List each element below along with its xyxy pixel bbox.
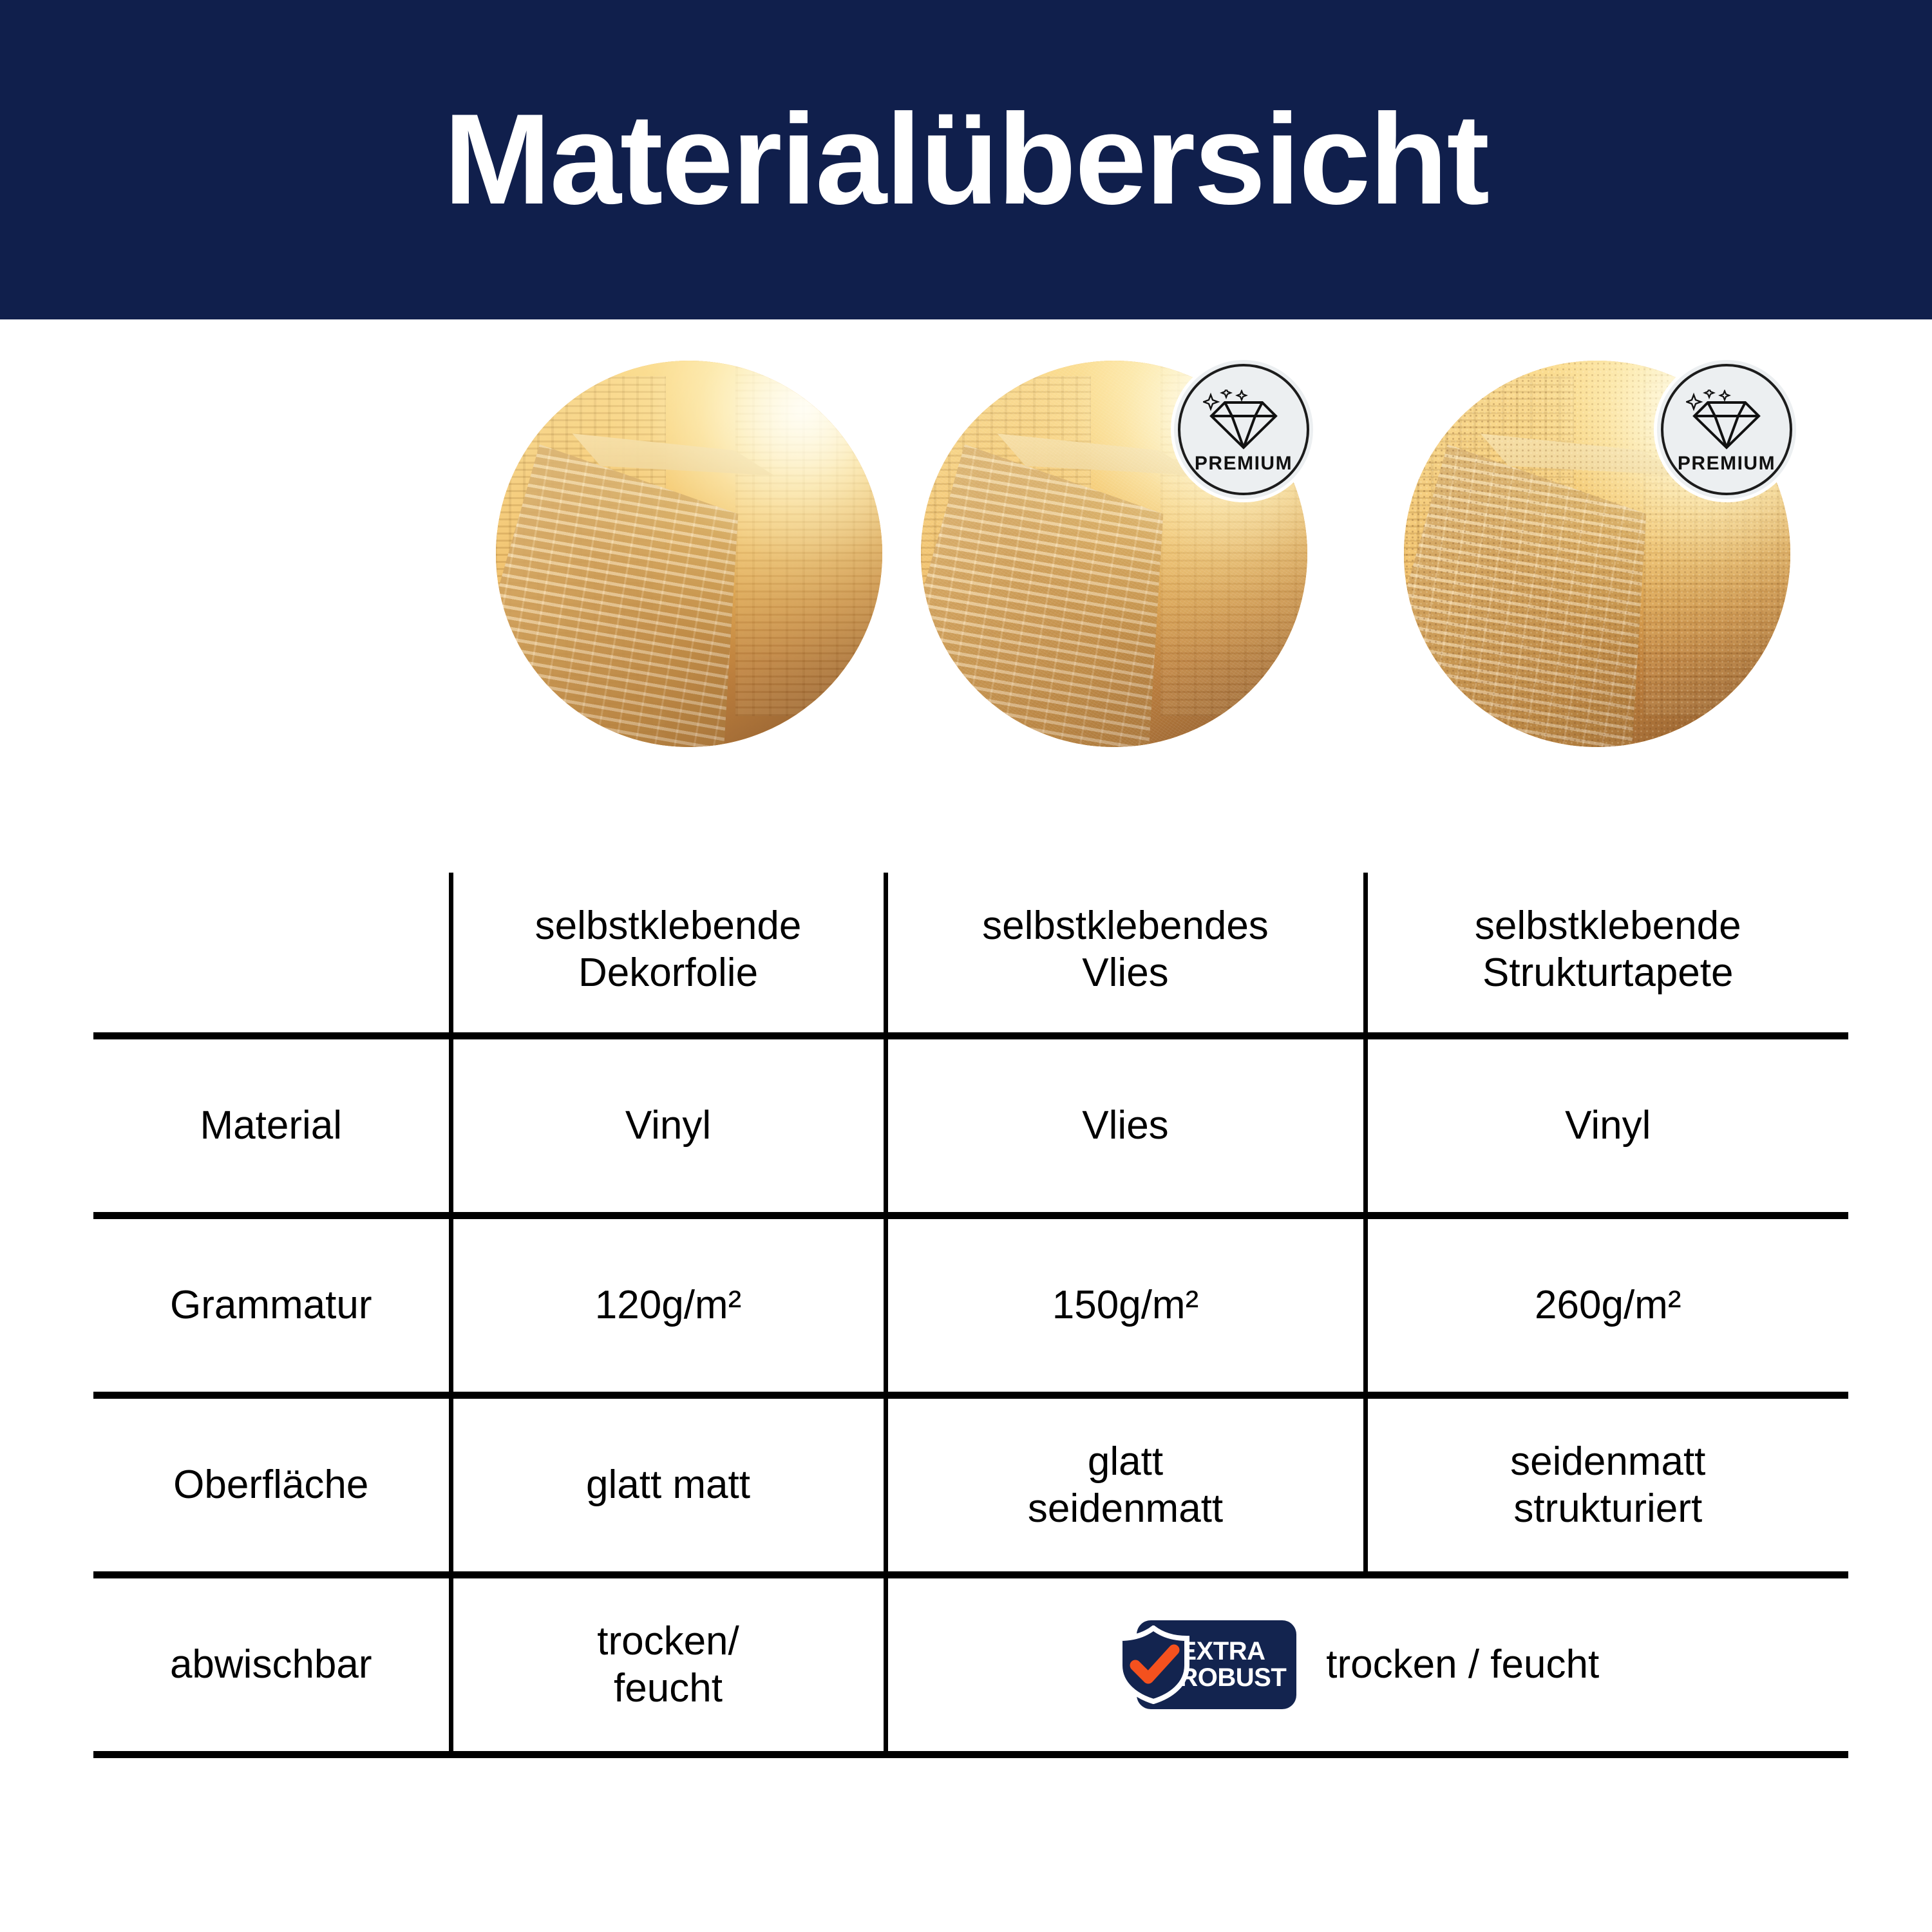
column-header-dekorfolie: selbstklebende Dekorfolie xyxy=(451,873,885,1036)
header-corner-empty xyxy=(93,873,451,1036)
cell-abwischbar-merged-text: trocken / feucht xyxy=(1326,1641,1599,1688)
column-header-line1: selbstklebende xyxy=(453,902,884,949)
table-row: Grammatur 120g/m² 150g/m² 260g/m² xyxy=(93,1216,1848,1396)
sun-glow xyxy=(496,361,882,747)
cell-grammatur-strukturtapete: 260g/m² xyxy=(1365,1216,1848,1396)
row-label-grammatur: Grammatur xyxy=(93,1216,451,1396)
cell-oberflaeche-dekorfolie: glatt matt xyxy=(451,1396,885,1575)
row-label-oberflaeche: Oberfläche xyxy=(93,1396,451,1575)
column-header-line2: Vlies xyxy=(888,949,1363,996)
cell-line2: strukturiert xyxy=(1368,1485,1849,1532)
table-row: Material Vinyl Vlies Vinyl xyxy=(93,1036,1848,1216)
column-header-vlies: selbstklebendes Vlies xyxy=(885,873,1365,1036)
cell-oberflaeche-strukturtapete: seidenmatt strukturiert xyxy=(1365,1396,1848,1575)
cell-line1: seidenmatt xyxy=(1368,1438,1849,1485)
premium-badge-label: PREMIUM xyxy=(1195,454,1293,473)
swatch-strukturtapete[interactable]: PREMIUM xyxy=(1404,361,1790,747)
row-label-abwischbar: abwischbar xyxy=(93,1575,451,1755)
cell-oberflaeche-vlies: glatt seidenmatt xyxy=(885,1396,1365,1575)
header-banner: Materialübersicht xyxy=(0,0,1932,319)
extra-robust-line2: ROBUST xyxy=(1179,1665,1286,1691)
premium-badge-inner: PREMIUM xyxy=(1178,364,1309,495)
page-title: Materialübersicht xyxy=(444,95,1488,224)
cell-grammatur-dekorfolie: 120g/m² xyxy=(451,1216,885,1396)
column-header-line1: selbstklebende xyxy=(1368,902,1849,949)
swatch-dekorfolie[interactable] xyxy=(496,361,882,747)
cell-material-vlies: Vlies xyxy=(885,1036,1365,1216)
diamond-icon xyxy=(1686,386,1767,451)
swatch-image-dekorfolie xyxy=(496,361,882,747)
column-header-strukturtapete: selbstklebende Strukturtapete xyxy=(1365,873,1848,1036)
premium-badge: PREMIUM xyxy=(1171,357,1316,502)
cell-grammatur-vlies: 150g/m² xyxy=(885,1216,1365,1396)
table-row: Oberfläche glatt matt glatt seidenmatt s… xyxy=(93,1396,1848,1575)
material-spec-table: selbstklebende Dekorfolie selbstklebende… xyxy=(93,873,1848,1758)
swatch-vlies[interactable]: PREMIUM xyxy=(921,361,1307,747)
cell-line1: glatt xyxy=(888,1438,1363,1485)
cell-material-dekorfolie: Vinyl xyxy=(451,1036,885,1216)
row-label-material: Material xyxy=(93,1036,451,1216)
cell-material-strukturtapete: Vinyl xyxy=(1365,1036,1848,1216)
cell-line2: feucht xyxy=(453,1665,884,1712)
material-swatch-row: PREMIUM xyxy=(0,361,1932,773)
cell-line1: trocken/ xyxy=(453,1618,884,1665)
column-header-line1: selbstklebendes xyxy=(888,902,1363,949)
premium-badge: PREMIUM xyxy=(1654,357,1799,502)
extra-robust-line1: EXTRA xyxy=(1179,1638,1265,1665)
cell-abwischbar-dekorfolie: trocken/ feucht xyxy=(451,1575,885,1755)
premium-badge-inner: PREMIUM xyxy=(1661,364,1792,495)
diamond-icon xyxy=(1203,386,1284,451)
table-header-row: selbstklebende Dekorfolie selbstklebende… xyxy=(93,873,1848,1036)
premium-badge-label: PREMIUM xyxy=(1678,454,1776,473)
cell-abwischbar-merged: EXTRA ROBUST trocken / feucht xyxy=(885,1575,1848,1755)
extra-robust-badge: EXTRA ROBUST xyxy=(1137,1620,1296,1709)
column-header-line2: Strukturtapete xyxy=(1368,949,1849,996)
cell-line1: glatt matt xyxy=(453,1461,884,1508)
extra-robust-label: EXTRA ROBUST xyxy=(1179,1638,1286,1691)
column-header-line2: Dekorfolie xyxy=(453,949,884,996)
table-row: abwischbar trocken/ feucht xyxy=(93,1575,1848,1755)
cell-line2: seidenmatt xyxy=(888,1485,1363,1532)
